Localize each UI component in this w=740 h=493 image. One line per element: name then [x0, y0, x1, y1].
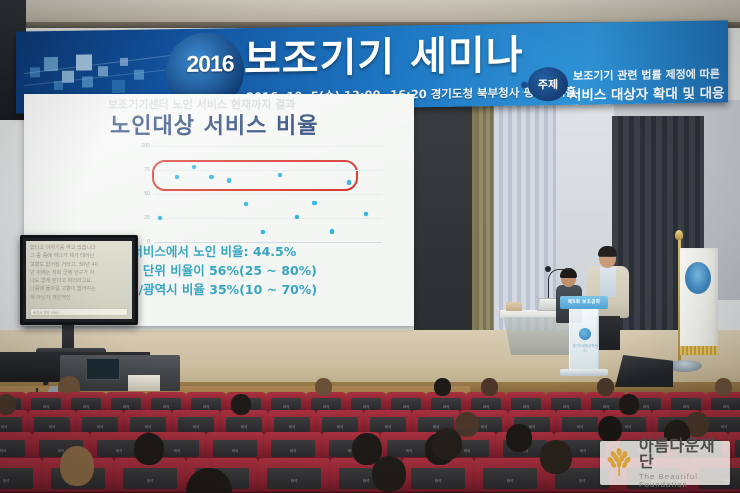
- seat-number-label: 좌석: [163, 404, 169, 409]
- chart-data-point: [209, 175, 213, 179]
- seat-number-label: 좌석: [83, 404, 89, 409]
- podium-base: [560, 369, 608, 376]
- seat-number-label: 좌석: [43, 404, 49, 409]
- chart-y-tick-label: 100: [132, 143, 150, 149]
- audience-seat: 좌석: [316, 410, 364, 434]
- audience-seat: 좌석: [364, 410, 412, 434]
- chart-gridline: [154, 170, 382, 171]
- seat-number-label: 좌석: [283, 404, 289, 409]
- audience-seat: 좌석: [346, 392, 386, 412]
- chart-y-tick-label: 50: [132, 191, 150, 197]
- audience-member-head: [231, 394, 251, 415]
- seat-number-label: 좌석: [174, 448, 180, 453]
- chart-data-point: [244, 202, 248, 206]
- audience-member-head: [432, 428, 462, 460]
- stage-floor-monitor-speaker: [615, 355, 673, 387]
- flag-fringe: [680, 346, 718, 355]
- chart-y-tick-label: 25: [132, 215, 150, 221]
- seat-number-label: 좌석: [0, 448, 6, 453]
- seat-number-label: 좌석: [625, 424, 631, 429]
- caption-text-block: 있다고 이야기를 하고 있습니다 그 중 중에 하나가 제가 태어난 고향도 없…: [30, 244, 128, 302]
- caption-monitor-screen: 있다고 이야기를 하고 있습니다 그 중 중에 하나가 제가 태어난 고향도 없…: [26, 241, 132, 319]
- microphone-stand: [548, 268, 570, 298]
- chart-data-point: [330, 229, 334, 233]
- seat-number-label: 좌석: [580, 448, 586, 453]
- audience-seat: 좌석: [106, 392, 146, 412]
- caption-line: 있다고 이야기를 하고 있습니다: [30, 244, 128, 252]
- audience-seat: 좌석: [76, 410, 124, 434]
- seat-number-label: 좌석: [323, 404, 329, 409]
- audience-member-head: [481, 378, 498, 396]
- chart-gridline: [154, 194, 382, 195]
- caption-line: 게 아닌가 개인적인: [30, 294, 128, 302]
- seat-number-label: 좌석: [723, 404, 729, 409]
- audience-seat: 좌석: [28, 410, 76, 434]
- audience-seat: 좌석: [0, 458, 42, 492]
- audience-member-head: [134, 433, 164, 465]
- presenter-shirt: [600, 267, 616, 297]
- audience-seat: 좌석: [666, 392, 706, 412]
- seat-number-label: 좌석: [603, 404, 609, 409]
- chart-data-point: [347, 180, 351, 184]
- slide-bullet-list: 전체 서비스에서 노인 비율: 44.5% 시군구 단위 비율이 56%(25 …: [104, 242, 404, 299]
- audience-member-head: [619, 394, 639, 415]
- podium-logo-caption: 경기도재활공학센터: [572, 343, 598, 353]
- seat-back-panel: [735, 440, 740, 457]
- flag-base: [668, 360, 702, 372]
- topic-bullet-dot: [521, 82, 528, 89]
- watermark-english: The Beautiful Foundation: [639, 473, 724, 488]
- seminar-photo-scene: 2016 보조기기 세미나 2016. 10. 5(수) 13:00~16:20…: [0, 0, 740, 493]
- seat-number-label: 좌석: [403, 404, 409, 409]
- seat-number-label: 좌석: [1, 424, 7, 429]
- chart-data-point: [158, 216, 162, 220]
- chart-gridline: [154, 146, 382, 147]
- audience-member-head: [60, 446, 94, 486]
- slide-bullet: 전체 서비스에서 노인 비율: 44.5%: [104, 242, 404, 261]
- audience-member-head: [540, 440, 572, 474]
- slide-bullet: 시군구 단위 비율이 56%(25 ~ 80%): [104, 261, 404, 280]
- seat-number-label: 좌석: [232, 448, 238, 453]
- audience-member-head: [434, 378, 451, 396]
- audience-seat: 좌석: [546, 392, 586, 412]
- audience-member-head: [715, 378, 732, 396]
- flag-emblem-icon: [685, 262, 711, 294]
- seat-number-label: 좌석: [483, 404, 489, 409]
- audience-seat: 좌석: [26, 392, 66, 412]
- caption-line: 그 중 중에 하나가 제가 태어난: [30, 252, 128, 260]
- chart-highlight-box: [152, 160, 358, 191]
- caption-status-label: 속기사 자막 서비스: [33, 310, 60, 315]
- chart-data-point: [175, 175, 179, 179]
- chart-y-tick-label: 75: [132, 167, 150, 173]
- audience-seat: 좌석: [186, 392, 226, 412]
- microphone-head-icon: [545, 266, 551, 272]
- seat-number-label: 좌석: [443, 404, 449, 409]
- dark-wall-panel: [414, 100, 476, 362]
- chart-data-point: [227, 178, 231, 182]
- audience-member-head: [372, 456, 406, 492]
- audience-member-head: [506, 424, 532, 452]
- audience-seat: 좌석: [124, 410, 172, 434]
- seat-number-label: 좌석: [643, 404, 649, 409]
- seat-number-label: 좌석: [385, 424, 391, 429]
- seat-number-label: 좌석: [363, 478, 369, 483]
- seat-number-label: 좌석: [563, 404, 569, 409]
- caption-monitor: 있다고 이야기를 하고 있습니다 그 중 중에 하나가 제가 태어난 고향도 없…: [20, 235, 138, 325]
- slide-title: 노인대상 서비스 비율: [110, 108, 318, 140]
- institution-flag: [676, 236, 722, 376]
- audience-seat: 좌석: [266, 392, 306, 412]
- caption-line: 나도 없게 된다고 하더라고요.: [30, 277, 128, 285]
- podium-label: 제5회 보조공학: [560, 299, 608, 305]
- caption-line: 나중에 돌아갈 고향이 없어지는: [30, 285, 128, 293]
- seat-number-label: 좌석: [241, 424, 247, 429]
- seat-number-label: 좌석: [433, 424, 439, 429]
- seat-number-label: 좌석: [579, 478, 585, 483]
- seat-number-label: 좌석: [147, 478, 153, 483]
- seat-number-label: 좌석: [116, 448, 122, 453]
- seat-number-label: 좌석: [193, 424, 199, 429]
- seat-number-label: 좌석: [577, 424, 583, 429]
- seat-number-label: 좌석: [529, 424, 535, 429]
- seat-number-label: 좌석: [97, 424, 103, 429]
- audience-member-head: [597, 378, 614, 396]
- topic-line-2: 서비스 대상자 확대 및 대응 방안: [569, 81, 728, 104]
- seat-number-label: 좌석: [481, 424, 487, 429]
- flag-finial: [675, 230, 683, 240]
- caption-status-bar: 속기사 자막 서비스: [30, 308, 128, 316]
- audience-seat: 좌석: [386, 392, 426, 412]
- seat-number-label: 좌석: [523, 404, 529, 409]
- podium: 제5회 보조공학 경기도재활공학센터: [560, 296, 608, 382]
- seat-number-label: 좌석: [406, 448, 412, 453]
- seat-number-label: 좌석: [291, 478, 297, 483]
- slide-bullet: 특별시/광역시 비율 35%(10 ~ 70%): [104, 280, 404, 299]
- seat-number-label: 좌석: [337, 424, 343, 429]
- chart-data-point: [312, 201, 316, 205]
- audience-seat: 좌석: [506, 392, 546, 412]
- chart-data-point: [364, 212, 368, 216]
- seat-number-label: 좌석: [145, 424, 151, 429]
- audience-seat: 좌석: [268, 410, 316, 434]
- watermark-logo: 아름다운재단 The Beautiful Foundation: [600, 441, 730, 485]
- audience-seat: 좌석: [264, 432, 322, 460]
- caption-line: 고향도 없어질 거라고. 30년 40: [30, 261, 128, 269]
- seat-number-label: 좌석: [435, 478, 441, 483]
- seat-number-label: 좌석: [721, 424, 727, 429]
- seat-number-label: 좌석: [123, 404, 129, 409]
- seat-number-label: 좌석: [683, 404, 689, 409]
- seat-number-label: 좌석: [289, 424, 295, 429]
- cardboard-box: [506, 302, 522, 311]
- seat-number-label: 좌석: [49, 424, 55, 429]
- seat-number-label: 좌석: [290, 448, 296, 453]
- watermark-text: 아름다운재단 The Beautiful Foundation: [639, 438, 724, 488]
- audience-member-head: [0, 394, 16, 415]
- podium-logo-icon: [579, 328, 591, 340]
- seat-number-label: 좌석: [203, 404, 209, 409]
- banner-title: 보조기기 세미나: [244, 36, 524, 80]
- audience-seat: 좌석: [474, 458, 546, 492]
- glasses-icon: [600, 256, 615, 259]
- tree-icon: [606, 448, 634, 478]
- seat-number-label: 좌석: [464, 448, 470, 453]
- seat-number-label: 좌석: [363, 404, 369, 409]
- chart-gridline: [154, 218, 382, 219]
- audience-seat: 좌석: [556, 410, 604, 434]
- seat-number-label: 좌석: [3, 478, 9, 483]
- back-table: [128, 375, 160, 391]
- audience-seat: 좌석: [172, 410, 220, 434]
- banner-year: 2016: [180, 50, 240, 78]
- audience-member-head: [315, 378, 332, 396]
- audience-seat: 좌석: [66, 392, 106, 412]
- audience-seat: 좌석: [146, 392, 186, 412]
- seat-number-label: 좌석: [507, 478, 513, 483]
- audience-member-head: [598, 416, 622, 442]
- audience-seat: 좌석: [258, 458, 330, 492]
- audience-seat: 좌석: [206, 432, 264, 460]
- audience-seat: 좌석: [0, 432, 32, 460]
- watermark-korean: 아름다운재단: [639, 438, 724, 470]
- caption-line: 년 뒤에는 저희 군에 인구가 하: [30, 269, 128, 277]
- chart-data-point: [261, 230, 265, 234]
- scatter-chart: 0255075100: [132, 142, 382, 254]
